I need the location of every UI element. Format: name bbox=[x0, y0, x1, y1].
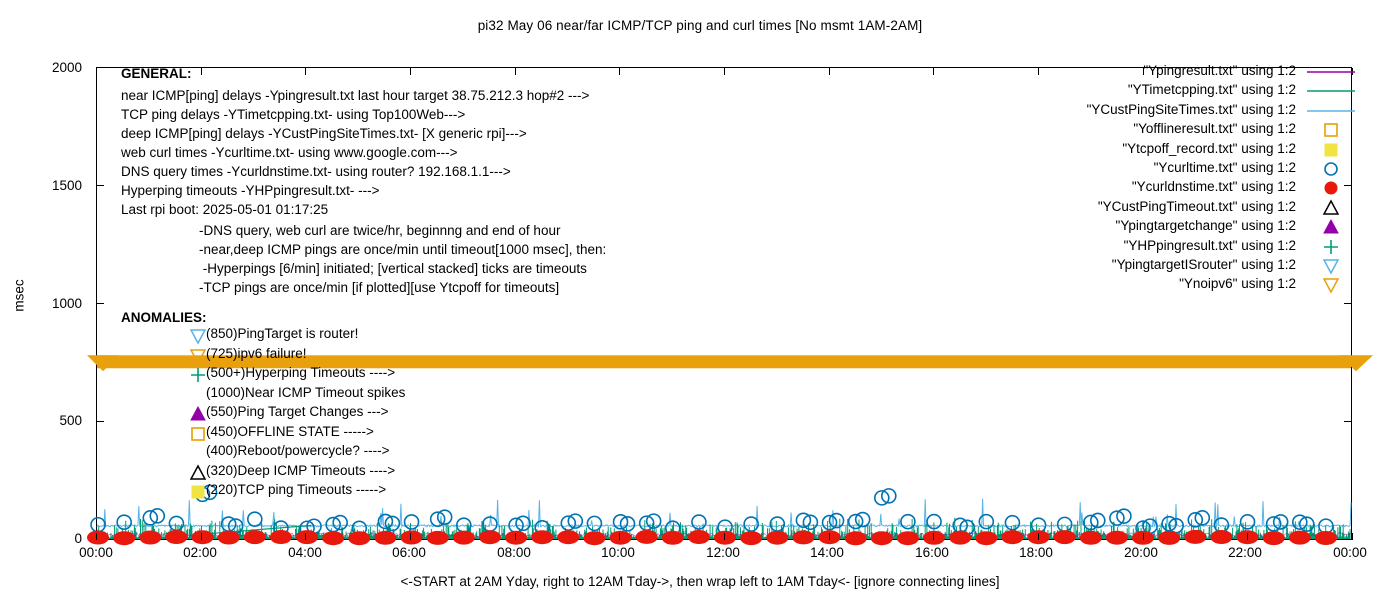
anomaly-symbol-open-triangle-down bbox=[189, 328, 207, 344]
anomaly-item-2: (500+)Hyperping Timeouts ----> bbox=[206, 365, 395, 380]
x-axis-caption: <-START at 2AM Yday, right to 12AM Tday-… bbox=[0, 574, 1400, 589]
anomaly-item-3: (1000)Near ICMP Timeout spikes bbox=[206, 385, 405, 400]
x-tick-3: 06:00 bbox=[369, 545, 449, 560]
x-tick-mark bbox=[1352, 533, 1353, 540]
x-tick-9: 18:00 bbox=[996, 545, 1076, 560]
legend-symbol-open-triangle-up bbox=[1305, 200, 1357, 216]
general-heading: GENERAL: bbox=[121, 64, 192, 83]
general-line-1: TCP ping delays -YTimetcpping.txt- using… bbox=[121, 105, 465, 124]
legend-label-10: "YpingtargetISrouter" using 1:2 bbox=[1112, 257, 1296, 272]
legend-label-6: "Ycurldnstime.txt" using 1:2 bbox=[1132, 179, 1296, 194]
anomalies-heading: ANOMALIES: bbox=[121, 308, 207, 327]
legend-symbol-line bbox=[1305, 64, 1357, 80]
legend-label-3: "Yofflineresult.txt" using 1:2 bbox=[1133, 121, 1296, 136]
anomaly-item-7: (320)Deep ICMP Timeouts ----> bbox=[206, 463, 395, 478]
y-tick-0: 0 bbox=[22, 531, 82, 546]
x-tick-mark-top bbox=[619, 68, 620, 75]
x-tick-mark bbox=[829, 533, 830, 540]
legend-symbol-open-triangle-down bbox=[1305, 277, 1357, 293]
x-tick-5: 10:00 bbox=[578, 545, 658, 560]
y-tick-1500: 1500 bbox=[22, 178, 82, 193]
general-indented-3: -TCP pings are once/min [if plotted][use… bbox=[199, 278, 559, 297]
x-tick-mark-top bbox=[933, 68, 934, 75]
anomaly-item-8: (220)TCP ping Timeouts -----> bbox=[206, 482, 386, 497]
legend-label-9: "YHPpingresult.txt" using 1:2 bbox=[1124, 238, 1296, 253]
anomaly-symbol-open-triangle-up bbox=[189, 465, 207, 481]
x-tick-mark-top bbox=[201, 68, 202, 75]
anomaly-symbol-filled-square bbox=[189, 484, 207, 500]
x-tick-mark-top bbox=[829, 68, 830, 75]
anomaly-symbol-plus bbox=[189, 367, 207, 383]
general-indented-0: -DNS query, web curl are twice/hr, begin… bbox=[199, 221, 560, 240]
legend-label-2: "YCustPingSiteTimes.txt" using 1:2 bbox=[1087, 102, 1296, 117]
x-tick-4: 08:00 bbox=[474, 545, 554, 560]
x-tick-mark-top bbox=[515, 68, 516, 75]
x-tick-mark bbox=[305, 533, 306, 540]
x-tick-11: 22:00 bbox=[1205, 545, 1285, 560]
anomaly-symbol-open-triangle-down bbox=[189, 348, 207, 364]
page-title: pi32 May 06 near/far ICMP/TCP ping and c… bbox=[0, 18, 1400, 33]
x-tick-mark bbox=[1247, 533, 1248, 540]
legend-label-8: "Ypingtargetchange" using 1:2 bbox=[1116, 218, 1296, 233]
legend-symbol-filled-triangle-up bbox=[1305, 219, 1357, 235]
x-tick-mark bbox=[619, 533, 620, 540]
y-tick-500: 500 bbox=[22, 413, 82, 428]
legend-symbol-line bbox=[1305, 103, 1357, 119]
anomaly-symbol-filled-triangle-up bbox=[189, 406, 207, 422]
general-line-2: deep ICMP[ping] delays -YCustPingSiteTim… bbox=[121, 124, 527, 143]
x-tick-mark bbox=[410, 533, 411, 540]
general-line-4: DNS query times -Ycurldnstime.txt- using… bbox=[121, 162, 511, 181]
legend-label-1: "YTimetcpping.txt" using 1:2 bbox=[1128, 82, 1296, 97]
legend-symbol-open-circle bbox=[1305, 161, 1357, 177]
legend-label-11: "Ynoipv6" using 1:2 bbox=[1179, 276, 1296, 291]
x-tick-10: 20:00 bbox=[1101, 545, 1181, 560]
legend-label-4: "Ytcpoff_record.txt" using 1:2 bbox=[1122, 141, 1296, 156]
x-tick-0: 00:00 bbox=[56, 545, 136, 560]
anomaly-symbol-open-square bbox=[189, 426, 207, 442]
legend-label-7: "YCustPingTimeout.txt" using 1:2 bbox=[1098, 199, 1296, 214]
anomaly-item-6: (400)Reboot/powercycle? ----> bbox=[206, 443, 389, 458]
x-tick-12: 00:00 bbox=[1310, 545, 1390, 560]
x-tick-8: 16:00 bbox=[892, 545, 972, 560]
anomaly-item-5: (450)OFFLINE STATE -----> bbox=[206, 424, 374, 439]
legend-symbol-plus bbox=[1305, 239, 1357, 255]
x-tick-mark bbox=[724, 533, 725, 540]
y-tick-1000: 1000 bbox=[22, 296, 82, 311]
x-tick-mark bbox=[96, 533, 97, 540]
general-line-3: web curl times -Ycurltime.txt- using www… bbox=[121, 143, 457, 162]
legend-symbol-filled-square bbox=[1305, 142, 1357, 158]
legend-symbol-open-square bbox=[1305, 122, 1357, 138]
x-tick-mark bbox=[201, 533, 202, 540]
general-line-6: Last rpi boot: 2025-05-01 01:17:25 bbox=[121, 200, 328, 219]
anomaly-item-0: (850)PingTarget is router! bbox=[206, 326, 358, 341]
x-tick-mark-top bbox=[724, 68, 725, 75]
x-tick-2: 04:00 bbox=[265, 545, 345, 560]
general-indented-2: -Hyperpings [6/min] initiated; [vertical… bbox=[199, 259, 587, 278]
x-tick-mark bbox=[933, 533, 934, 540]
x-tick-1: 02:00 bbox=[160, 545, 240, 560]
legend-symbol-open-triangle-down bbox=[1305, 258, 1357, 274]
legend-symbol-line bbox=[1305, 83, 1357, 99]
general-line-5: Hyperping timeouts -YHPpingresult.txt- -… bbox=[121, 181, 379, 200]
x-tick-mark-top bbox=[96, 68, 97, 75]
legend-label-5: "Ycurltime.txt" using 1:2 bbox=[1154, 160, 1296, 175]
x-tick-6: 12:00 bbox=[683, 545, 763, 560]
general-line-0: near ICMP[ping] delays -Ypingresult.txt … bbox=[121, 86, 589, 105]
x-tick-mark-top bbox=[305, 68, 306, 75]
x-tick-mark-top bbox=[1038, 68, 1039, 75]
x-tick-7: 14:00 bbox=[787, 545, 867, 560]
general-indented-1: -near,deep ICMP pings are once/min until… bbox=[199, 240, 606, 259]
x-tick-mark bbox=[515, 533, 516, 540]
x-tick-mark bbox=[1143, 533, 1144, 540]
legend-symbol-filled-circle bbox=[1305, 180, 1357, 196]
x-tick-mark bbox=[1038, 533, 1039, 540]
y-tick-2000: 2000 bbox=[22, 60, 82, 75]
legend-label-0: "Ypingresult.txt" using 1:2 bbox=[1143, 63, 1296, 78]
anomaly-item-1: (725)ipv6 failure! bbox=[206, 346, 307, 361]
anomaly-item-4: (550)Ping Target Changes ---> bbox=[206, 404, 388, 419]
x-tick-mark-top bbox=[410, 68, 411, 75]
